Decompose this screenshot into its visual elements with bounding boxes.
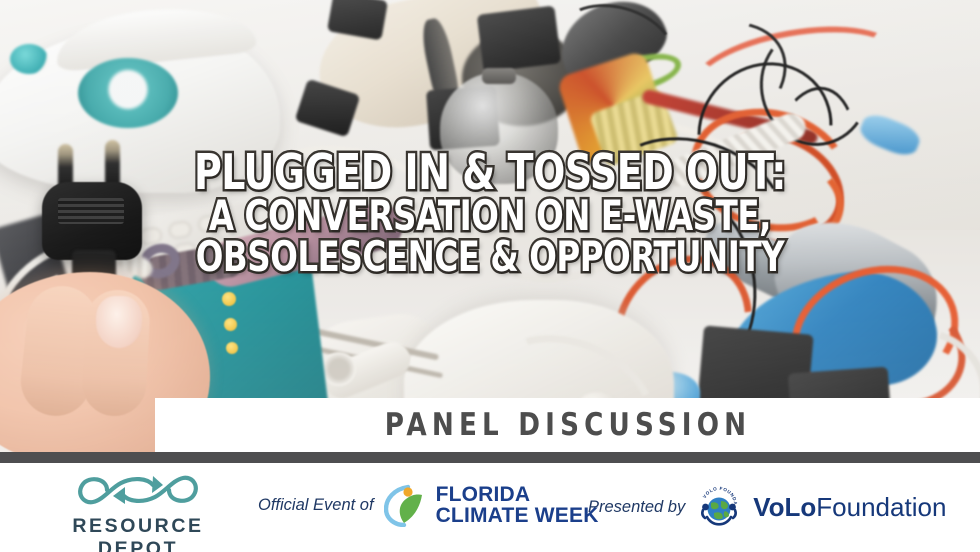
divider-rule (0, 452, 980, 463)
title-line-2: A CONVERSATION ON E-WASTE, (69, 197, 912, 236)
power-adapter (477, 5, 561, 72)
panel-discussion-banner: PANEL DISCUSSION (155, 398, 980, 452)
florida-climate-week-lockup: Official Event of FLORIDA CLIMATE WEEK (258, 483, 599, 527)
event-promo-poster: PLUGGED IN & TOSSED OUT: A CONVERSATION … (0, 0, 980, 552)
volo-foundation-lockup: Presented by VOL (588, 483, 946, 531)
poster-title: PLUGGED IN & TOSSED OUT: A CONVERSATION … (0, 150, 980, 276)
title-line-3: OBSOLESCENCE & OPPORTUNITY (69, 238, 912, 277)
steam-iron-knob (10, 44, 48, 74)
infinity-recycle-icon (32, 468, 244, 512)
presented-by-tagline: Presented by (588, 498, 685, 517)
resource-depot-name: RESOURCE DEPOT (32, 515, 244, 552)
yellow-button (226, 342, 238, 354)
banner-label: PANEL DISCUSSION (384, 407, 751, 443)
florida-climate-week-wordmark: FLORIDA CLIMATE WEEK (436, 484, 599, 526)
thumb-nail (96, 296, 142, 348)
fcw-line-2: CLIMATE WEEK (436, 505, 599, 526)
official-event-tagline: Official Event of (258, 496, 374, 515)
volo-foundation-wordmark: VoLoFoundation (753, 492, 946, 523)
volo-name-light: Foundation (816, 492, 946, 522)
globe-people-icon: VOLO FOUNDATION (695, 483, 743, 531)
title-line-1: PLUGGED IN & TOSSED OUT: (69, 150, 912, 195)
footer-logo-bar: RESOURCE DEPOT Official Event of FLORIDA… (0, 463, 980, 552)
fcw-line-1: FLORIDA (436, 484, 599, 505)
steam-iron-dial (78, 58, 178, 128)
yellow-button (222, 292, 236, 306)
volo-name-bold: VoLo (753, 492, 816, 522)
glass-dome-cap (482, 68, 516, 84)
resource-depot-logo: RESOURCE DEPOT (32, 468, 244, 552)
leaf-person-arc-icon (384, 483, 426, 527)
yellow-button (224, 318, 237, 331)
